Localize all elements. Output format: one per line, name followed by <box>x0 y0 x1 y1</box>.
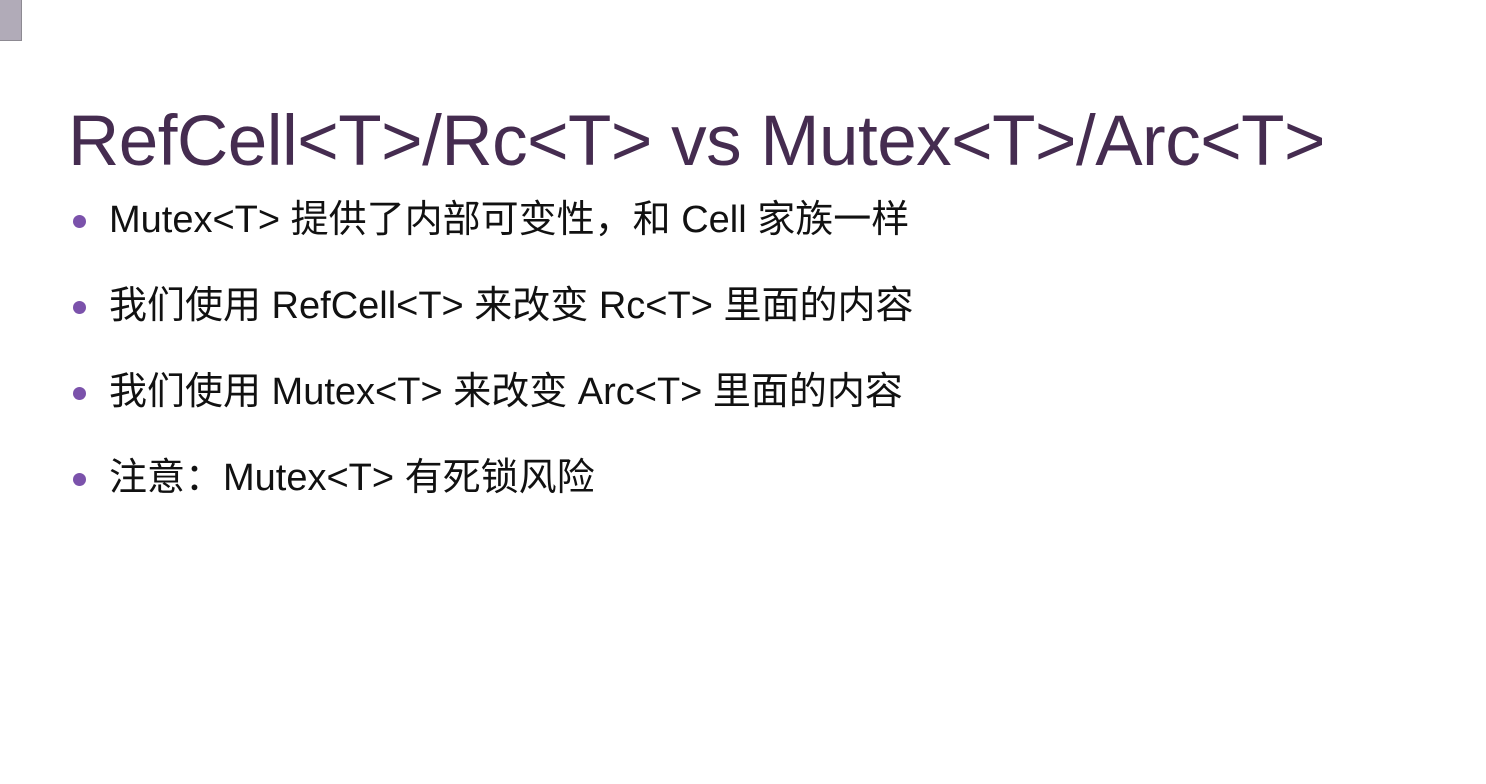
bullet-text: 我们使用 Mutex<T> 来改变 Arc<T> 里面的内容 <box>109 371 903 415</box>
list-item: 注意：Mutex<T> 有死锁风险 <box>68 436 1428 522</box>
bullet-dot-icon <box>73 215 86 228</box>
bullet-text: 注意：Mutex<T> 有死锁风险 <box>109 457 595 501</box>
bullet-dot-icon <box>73 301 86 314</box>
list-item: 我们使用 Mutex<T> 来改变 Arc<T> 里面的内容 <box>68 350 1428 436</box>
list-item: Mutex<T> 提供了内部可变性，和 Cell 家族一样 <box>68 178 1428 264</box>
bullet-text: Mutex<T> 提供了内部可变性，和 Cell 家族一样 <box>109 199 909 243</box>
list-item: 我们使用 RefCell<T> 来改变 Rc<T> 里面的内容 <box>68 264 1428 350</box>
presentation-slide: RefCell<T>/Rc<T> vs Mutex<T>/Arc<T> Mute… <box>0 0 1486 784</box>
page-title: RefCell<T>/Rc<T> vs Mutex<T>/Arc<T> <box>68 106 1418 177</box>
bullet-text: 我们使用 RefCell<T> 来改变 Rc<T> 里面的内容 <box>109 285 913 329</box>
bullet-dot-icon <box>73 473 86 486</box>
bullet-list: Mutex<T> 提供了内部可变性，和 Cell 家族一样 我们使用 RefCe… <box>68 178 1428 522</box>
bullet-dot-icon <box>73 387 86 400</box>
